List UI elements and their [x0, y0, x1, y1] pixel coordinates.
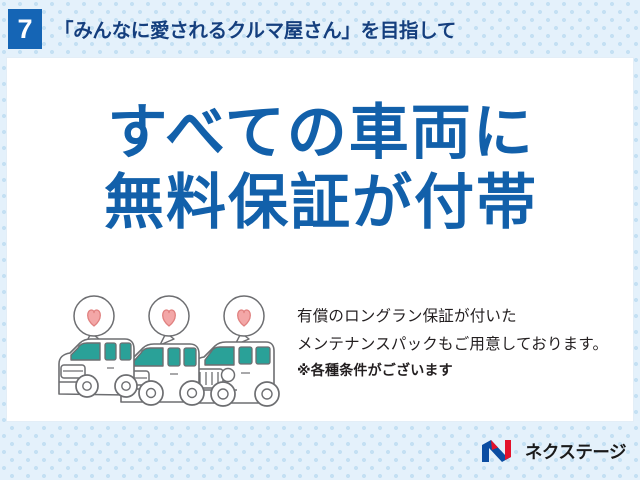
section-number-badge: 7	[8, 9, 42, 49]
headline: すべての車両に 無料保証が付帯	[7, 98, 635, 238]
heart-bubble-3	[224, 296, 264, 345]
car-kei-wagon	[59, 339, 137, 397]
car-suv-jeep	[193, 342, 279, 406]
page-title: 「みんなに愛されるクルマ屋さん」を目指して	[54, 14, 456, 43]
headline-line-2: 無料保証が付帯	[7, 168, 635, 238]
heart-bubble-2	[149, 296, 189, 345]
body-copy-line-1: 有償のロングラン保証が付いた	[297, 303, 608, 331]
content-panel: すべての車両に 無料保証が付帯	[6, 57, 634, 422]
body-copy: 有償のロングラン保証が付いた メンテナンスパックもご用意しております。 ※各種条…	[297, 303, 608, 383]
nextage-logo-text: ネクステージ	[525, 439, 626, 464]
headline-line-1: すべての車両に	[7, 98, 635, 168]
nextage-logo: ネクステージ	[480, 438, 626, 464]
nextage-logo-mark-icon	[480, 438, 518, 464]
cars-illustration-svg	[55, 290, 283, 408]
promo-slide: 7 「みんなに愛されるクルマ屋さん」を目指して すべての車両に 無料保証が付帯	[0, 0, 640, 480]
slide-header: 7 「みんなに愛されるクルマ屋さん」を目指して	[0, 0, 640, 57]
slide-footer: ネクステージ	[0, 422, 640, 480]
lower-content: 有償のロングラン保証が付いた メンテナンスパックもご用意しております。 ※各種条…	[7, 290, 635, 410]
body-copy-note: ※各種条件がございます	[297, 358, 608, 383]
heart-bubble-1	[74, 296, 114, 345]
cars-illustration	[55, 290, 283, 408]
body-copy-line-2: メンテナンスパックもご用意しております。	[297, 331, 608, 359]
